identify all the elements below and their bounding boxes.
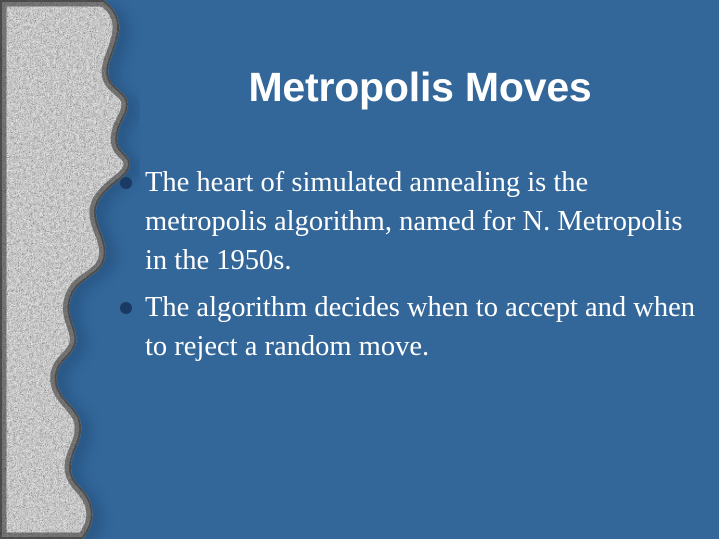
list-item: The heart of simulated annealing is the … [118,163,696,280]
list-item: The algorithm decides when to accept and… [118,288,696,366]
list-item-text: The heart of simulated annealing is the … [145,163,696,280]
bullet-dot-icon [120,302,132,314]
slide-body: The heart of simulated annealing is the … [118,163,696,366]
bullet-dot-icon [120,177,132,189]
presentation-slide: Metropolis Moves The heart of simulated … [0,0,719,539]
slide-title: Metropolis Moves [150,63,690,112]
list-item-text: The algorithm decides when to accept and… [145,288,696,366]
